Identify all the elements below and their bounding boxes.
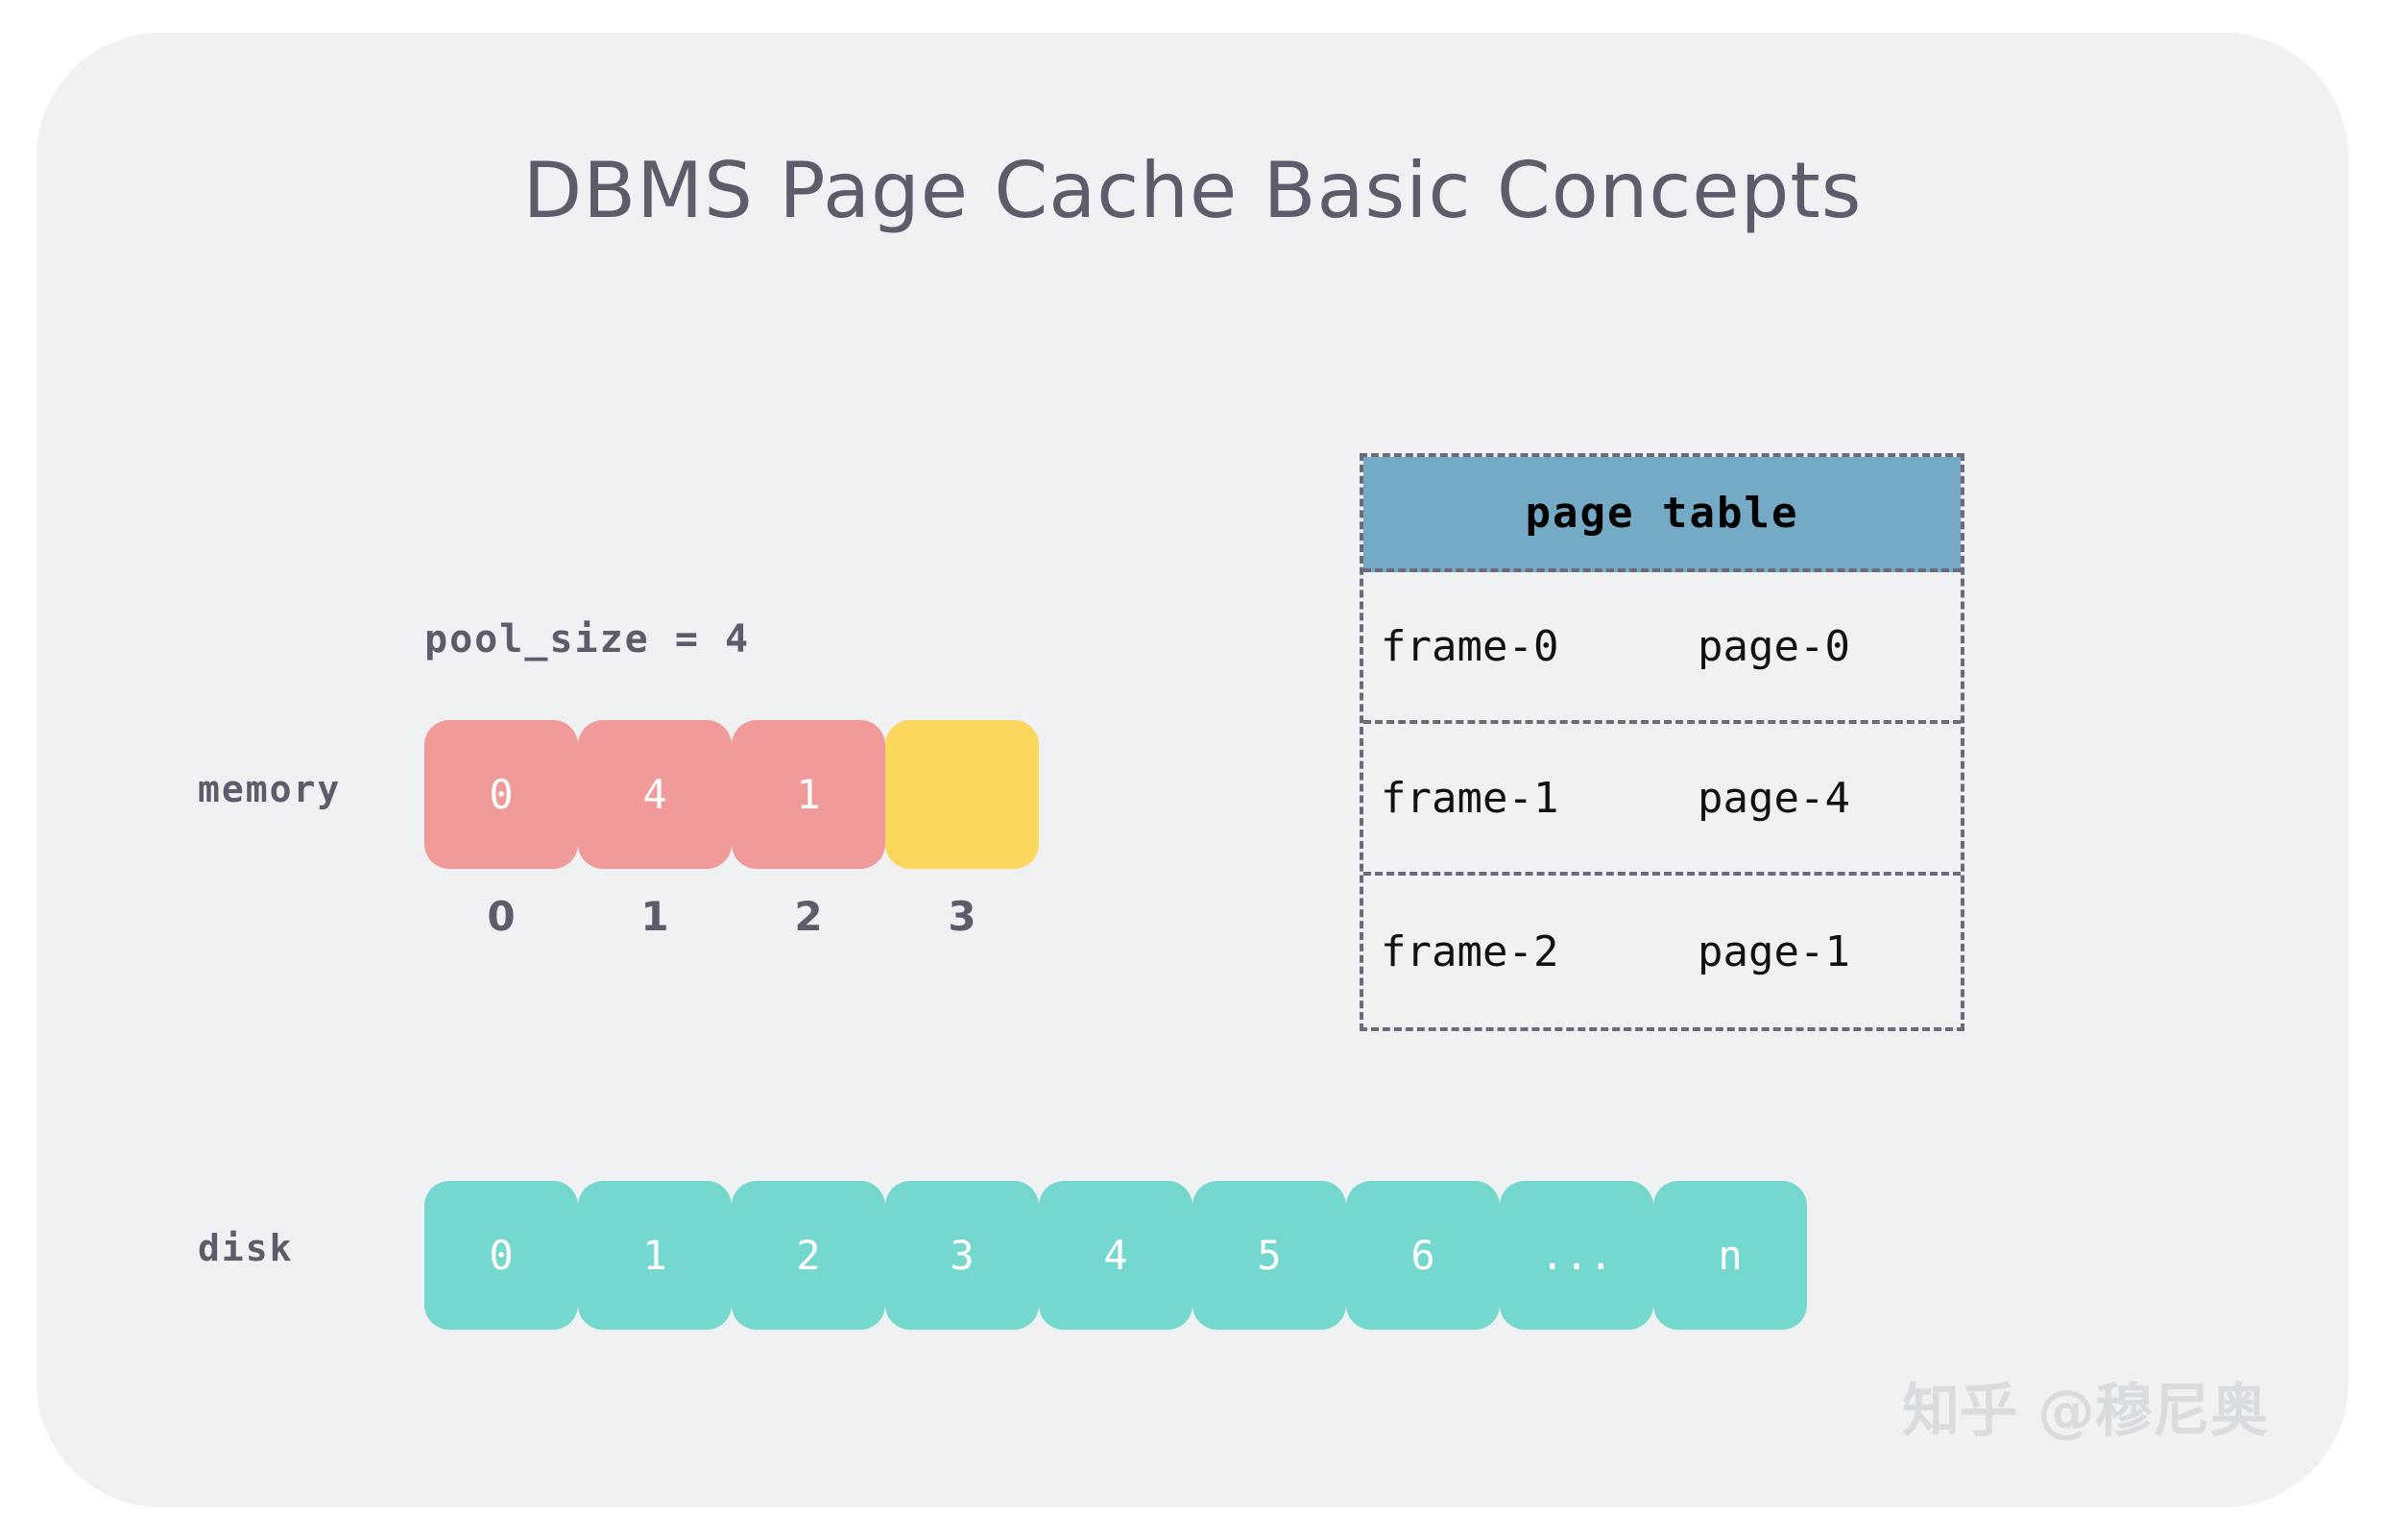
memory-frame-cell: 0 xyxy=(424,720,578,869)
disk-page-cell-ellipsis: ... xyxy=(1500,1181,1653,1330)
disk-page-cell: n xyxy=(1653,1181,1807,1330)
memory-frame-cell-free xyxy=(885,720,1039,869)
memory-frame-value: 0 xyxy=(489,771,513,818)
disk-page-value: 4 xyxy=(1103,1232,1127,1279)
page-table-row: frame-2 page-1 xyxy=(1363,876,1961,1027)
disk-page-cell: 5 xyxy=(1192,1181,1346,1330)
memory-frame-cell: 4 xyxy=(578,720,732,869)
memory-frame-value: 1 xyxy=(796,771,820,818)
page-title: DBMS Page Cache Basic Concepts xyxy=(36,146,2349,235)
disk-page-cell: 1 xyxy=(578,1181,732,1330)
page-table-frame-cell: frame-0 xyxy=(1363,622,1698,671)
memory-frame-value: 4 xyxy=(642,771,666,818)
disk-page-value: n xyxy=(1718,1232,1742,1279)
disk-page-value: ... xyxy=(1540,1232,1613,1279)
page-table-page-cell: page-0 xyxy=(1698,622,1850,671)
page-table-header: page table xyxy=(1363,457,1961,572)
page-table-row: frame-1 page-4 xyxy=(1363,724,1961,876)
page-table-frame-cell: frame-2 xyxy=(1363,927,1698,976)
disk-page-cell: 0 xyxy=(424,1181,578,1330)
watermark: 知乎 @穆尼奥 xyxy=(1902,1364,2268,1448)
diagram-canvas: DBMS Page Cache Basic Concepts pool_size… xyxy=(36,33,2349,1507)
memory-index-label: 2 xyxy=(732,893,885,940)
page-table-row: frame-0 page-0 xyxy=(1363,572,1961,724)
page-table: page table frame-0 page-0 frame-1 page-4… xyxy=(1360,453,1964,1031)
memory-index-label: 0 xyxy=(424,893,578,940)
disk-page-cell: 4 xyxy=(1039,1181,1192,1330)
disk-page-cell: 6 xyxy=(1346,1181,1500,1330)
page-table-frame-cell: frame-1 xyxy=(1363,774,1698,823)
disk-page-cell: 2 xyxy=(732,1181,885,1330)
disk-page-value: 1 xyxy=(642,1232,666,1279)
page-table-title: page table xyxy=(1526,489,1799,538)
page-table-page-cell: page-1 xyxy=(1698,927,1850,976)
memory-row-label: memory xyxy=(198,768,341,810)
disk-page-value: 0 xyxy=(489,1232,513,1279)
pool-size-label: pool_size = 4 xyxy=(424,617,750,662)
disk-page-value: 3 xyxy=(950,1232,974,1279)
disk-page-cell: 3 xyxy=(885,1181,1039,1330)
page-table-page-cell: page-4 xyxy=(1698,774,1850,823)
memory-frame-cell: 1 xyxy=(732,720,885,869)
disk-page-value: 6 xyxy=(1410,1232,1434,1279)
disk-page-strip: 0 1 2 3 4 5 6 ... n xyxy=(424,1181,1807,1330)
memory-frame-strip: 0 4 1 xyxy=(424,720,1039,869)
memory-index-row: 0 1 2 3 xyxy=(424,893,1039,940)
memory-index-label: 1 xyxy=(578,893,732,940)
disk-page-value: 5 xyxy=(1257,1232,1281,1279)
disk-row-label: disk xyxy=(198,1227,294,1269)
memory-index-label: 3 xyxy=(885,893,1039,940)
disk-page-value: 2 xyxy=(796,1232,820,1279)
